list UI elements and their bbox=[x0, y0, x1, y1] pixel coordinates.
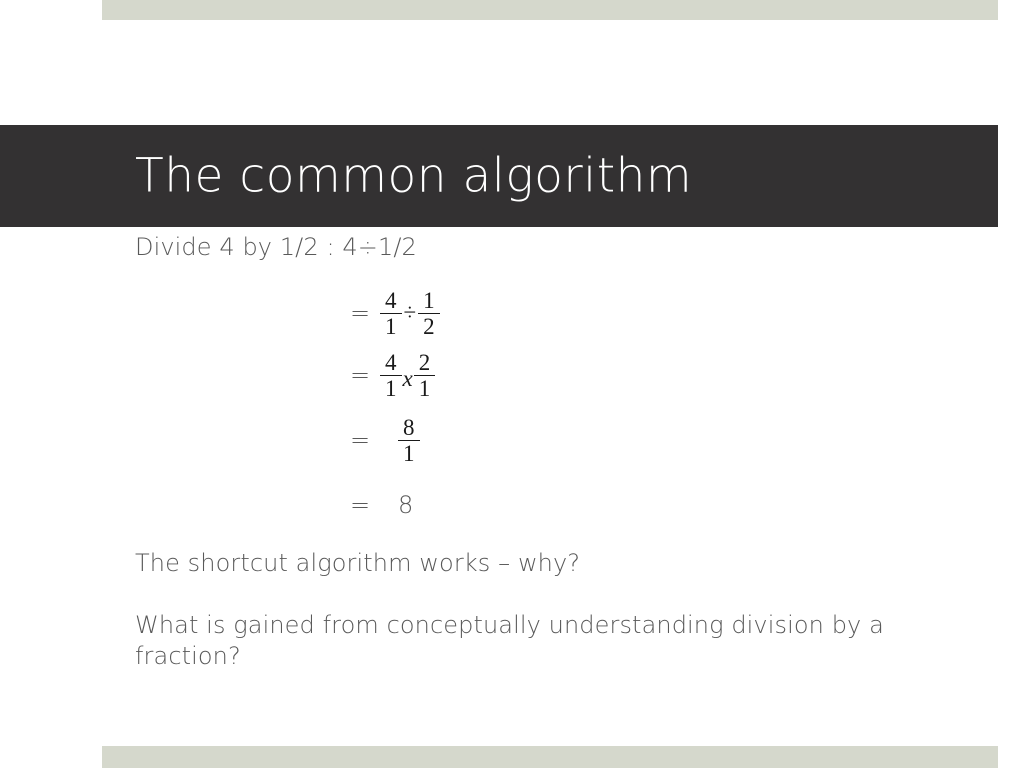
fraction-numerator: 4 bbox=[380, 351, 402, 375]
equation-row-4: = 8 bbox=[350, 480, 650, 530]
fraction-denominator: 1 bbox=[380, 375, 402, 400]
equation-row-3: = 8 1 bbox=[350, 406, 650, 474]
intro-line: Divide 4 by 1/2 : 4÷1/2 bbox=[135, 232, 985, 263]
fraction-one-over-two: 1 2 bbox=[418, 289, 440, 338]
equals-sign: = bbox=[350, 299, 380, 327]
body-content: Divide 4 by 1/2 : 4÷1/2 bbox=[135, 232, 985, 273]
equation-block: = 4 1 ÷ 1 2 = 4 1 x 2 1 = bbox=[350, 282, 650, 530]
fraction-numerator: 4 bbox=[380, 289, 402, 313]
multiplication-operator: x bbox=[402, 366, 414, 392]
fraction-four-over-one: 4 1 bbox=[380, 289, 402, 338]
accent-bar-top bbox=[102, 0, 998, 20]
slide: The common algorithm Divide 4 by 1/2 : 4… bbox=[0, 0, 1024, 768]
fraction-four-over-one: 4 1 bbox=[380, 351, 402, 400]
question-shortcut: The shortcut algorithm works – why? bbox=[135, 548, 995, 579]
question-gained: What is gained from conceptually underst… bbox=[135, 610, 980, 671]
fraction-numerator: 1 bbox=[418, 289, 440, 313]
fraction-denominator: 1 bbox=[398, 440, 420, 465]
division-operator: ÷ bbox=[402, 300, 419, 326]
equals-sign: = bbox=[350, 491, 380, 519]
fraction-denominator: 1 bbox=[380, 313, 402, 338]
title-banner: The common algorithm bbox=[0, 125, 998, 227]
fraction-numerator: 8 bbox=[398, 416, 420, 440]
final-result: 8 bbox=[398, 491, 413, 519]
fraction-denominator: 1 bbox=[414, 375, 436, 400]
equals-sign: = bbox=[350, 426, 380, 454]
fraction-numerator: 2 bbox=[414, 351, 436, 375]
fraction-two-over-one: 2 1 bbox=[414, 351, 436, 400]
equals-sign: = bbox=[350, 361, 380, 389]
equation-row-1: = 4 1 ÷ 1 2 bbox=[350, 282, 650, 344]
fraction-eight-over-one: 8 1 bbox=[398, 416, 420, 465]
equation-row-2: = 4 1 x 2 1 bbox=[350, 344, 650, 406]
slide-title: The common algorithm bbox=[135, 151, 692, 200]
accent-bar-bottom bbox=[102, 746, 998, 768]
fraction-denominator: 2 bbox=[418, 313, 440, 338]
